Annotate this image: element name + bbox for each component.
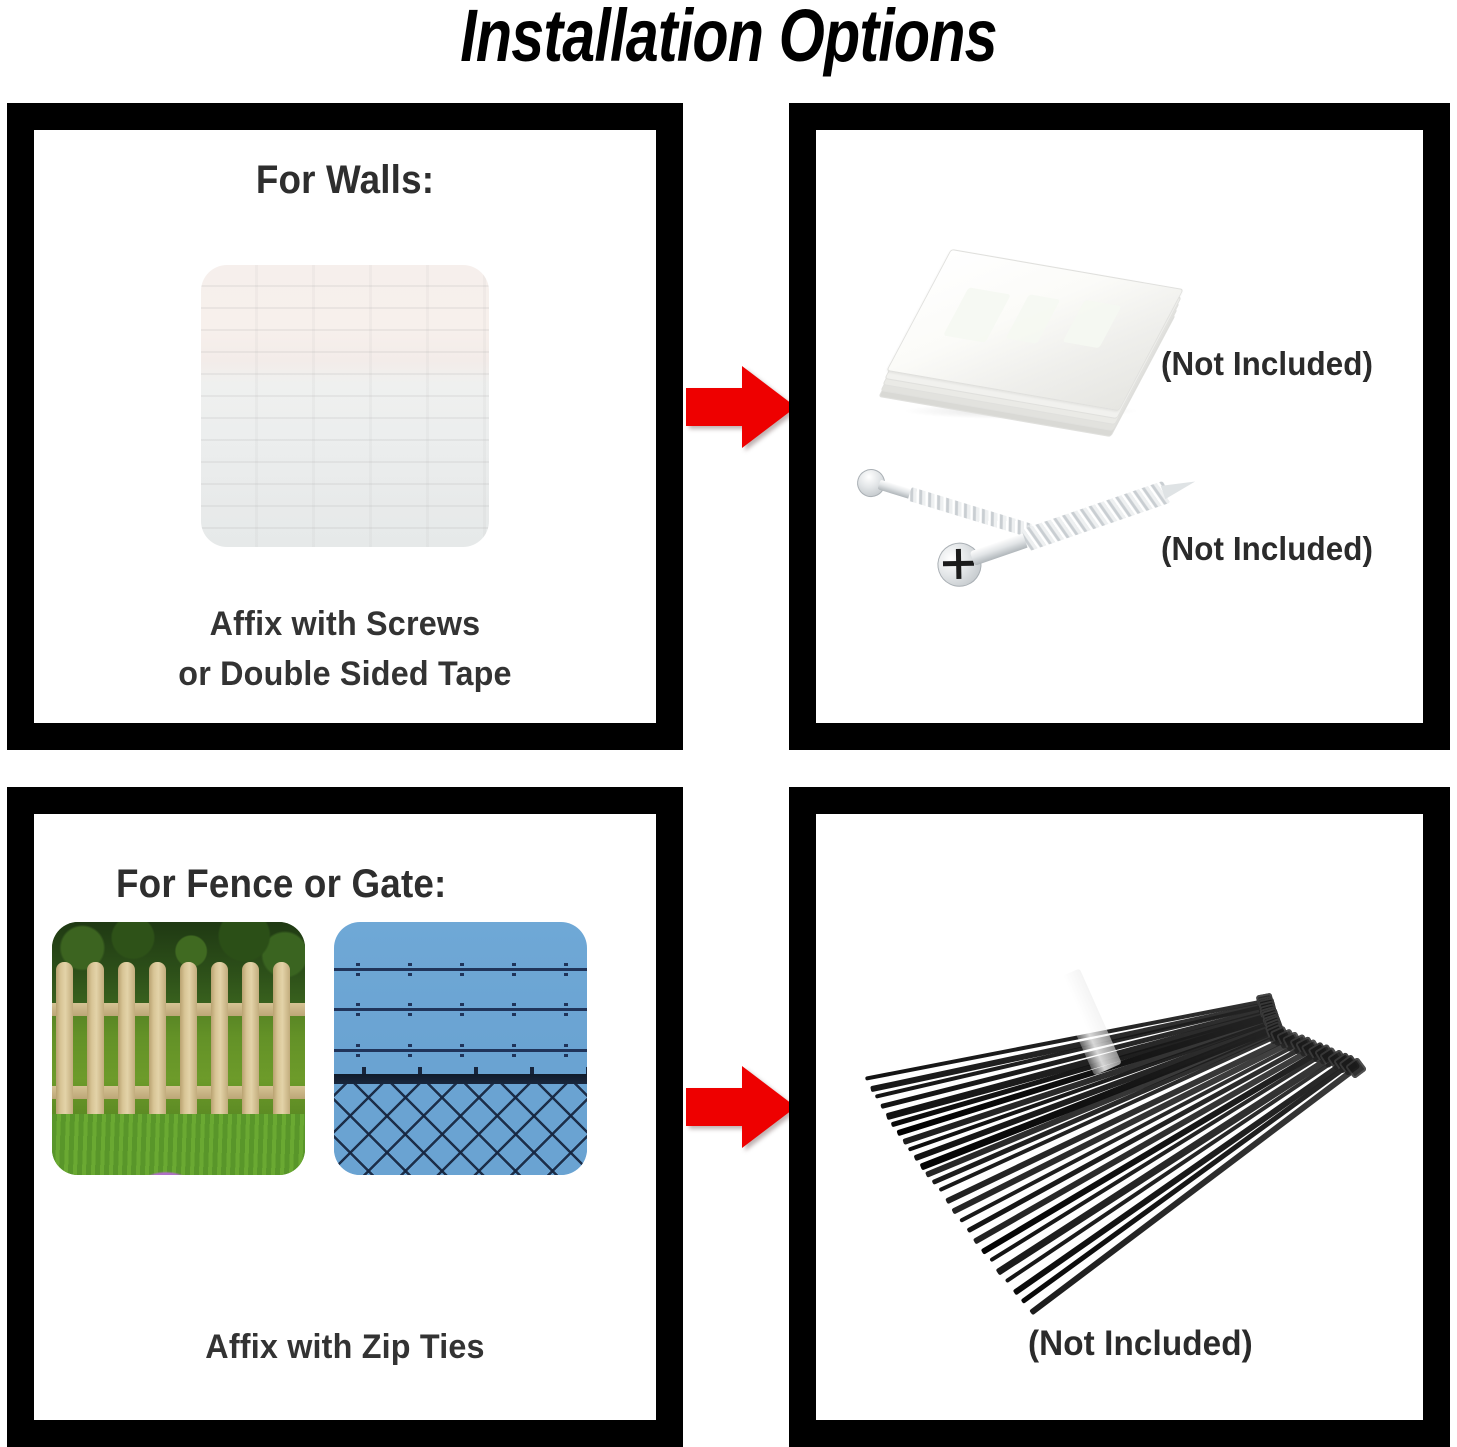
caption-walls-line1: Affix with Screws xyxy=(50,600,641,649)
barbed-wire-strand xyxy=(334,1008,587,1011)
panel-zip-ties-inner: (Not Included) xyxy=(816,814,1423,1420)
panel-for-fence-or-gate: For Fence or Gate: xyxy=(7,787,683,1447)
arrow-shape xyxy=(686,1066,796,1148)
panel-zip-ties: (Not Included) xyxy=(789,787,1450,1447)
panel-for-walls-inner: For Walls: Affix with Screws or Double S… xyxy=(34,130,656,723)
zip-ties-bundle-image xyxy=(844,844,1404,1274)
caption-walls-line2: or Double Sided Tape xyxy=(50,650,641,699)
zip-ties-not-included-label: (Not Included) xyxy=(1028,1324,1253,1364)
infographic-root: Installation Options For Walls: Affix wi… xyxy=(0,0,1457,1434)
right-arrow-icon-top xyxy=(686,366,796,448)
double-sided-tape-image xyxy=(876,245,1176,435)
arrow-shape xyxy=(686,366,796,448)
right-arrow-icon-bottom xyxy=(686,1066,796,1148)
phillips-cross-horizontal xyxy=(943,561,974,567)
caption-fence: Affix with Zip Ties xyxy=(50,1323,641,1372)
heading-for-walls: For Walls: xyxy=(59,158,631,203)
screw-shank xyxy=(970,533,1030,566)
arrow-head xyxy=(742,366,796,448)
arrow-shaft xyxy=(686,1088,748,1126)
panel-wall-hardware: (Not Included) (Not Included) xyxy=(789,103,1450,750)
barbed-wire-strand xyxy=(334,1049,587,1052)
caption-walls: Affix with Screws or Double Sided Tape xyxy=(50,600,641,699)
wooden-picket-fence-image xyxy=(52,922,305,1175)
screw-tip xyxy=(1161,475,1198,499)
screw-threads xyxy=(1021,481,1170,552)
barbed-wire-strand xyxy=(334,968,587,971)
heading-for-fence-or-gate: For Fence or Gate: xyxy=(116,862,446,907)
screws-not-included-label: (Not Included) xyxy=(1161,530,1373,568)
chain-link-barbed-wire-image xyxy=(334,922,587,1175)
panel-for-walls: For Walls: Affix with Screws or Double S… xyxy=(7,103,683,750)
tape-not-included-label: (Not Included) xyxy=(1161,345,1373,383)
page-title: Installation Options xyxy=(146,0,1312,76)
arrow-head xyxy=(742,1066,796,1148)
chain-link-mesh xyxy=(334,1084,587,1175)
panel-for-fence-or-gate-inner: For Fence or Gate: xyxy=(34,814,656,1420)
grass-foreground xyxy=(52,1114,305,1175)
white-brick-wall-image xyxy=(201,265,489,547)
arrow-shaft xyxy=(686,388,748,426)
panel-wall-hardware-inner: (Not Included) (Not Included) xyxy=(816,130,1423,723)
